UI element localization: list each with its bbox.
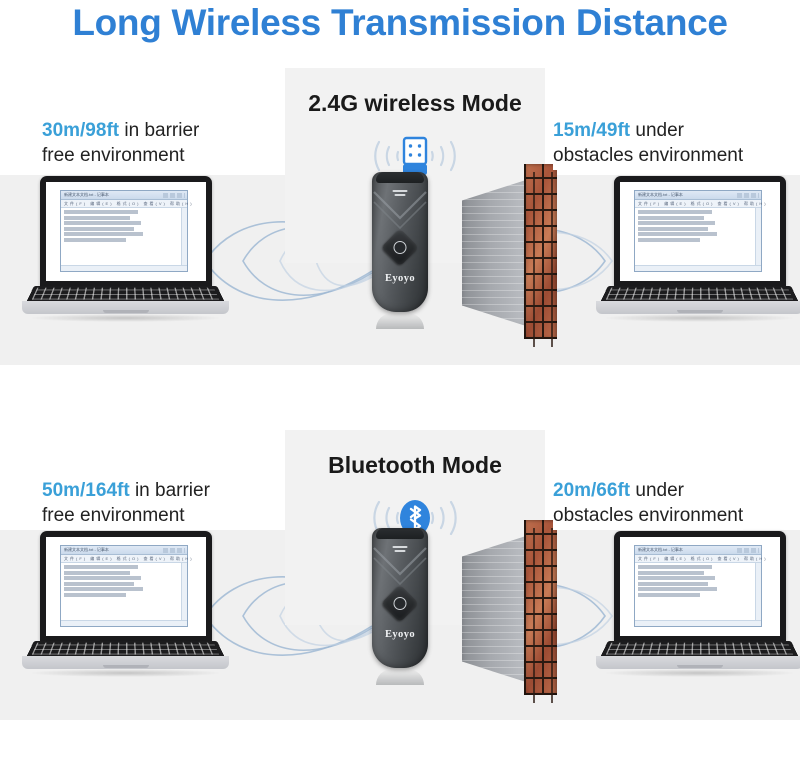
wall-side-face [462,180,526,326]
notepad-titlebar: 新建文本文档.txt - 记事本 [61,546,187,555]
notepad-titlebar: 新建文本文档.txt - 记事本 [635,546,761,555]
notepad-menu-text: 文件(F) 编辑(E) 格式(O) 查看(V) 帮助(H) [638,201,768,207]
laptop-screen: 新建文本文档.txt - 记事本 文件(F) 编辑(E) 格式(O) 查看(V)… [46,182,206,281]
mode-title: Bluetooth Mode [285,452,545,479]
scanner-trigger-button[interactable] [394,241,407,254]
distance-qualifier: in barrier [130,480,210,501]
notepad-window: 新建文本文档.txt - 记事本 文件(F) 编辑(E) 格式(O) 查看(V)… [634,190,762,272]
laptop-shadow [28,314,223,322]
laptop-shadow [602,669,797,677]
notepad-title-text: 新建文本文档.txt - 记事本 [64,192,109,198]
caption-right-bluetooth: 20m/66ft under obstacles environment [553,476,743,530]
laptop-deck [596,301,800,314]
laptop-screen: 新建文本文档.txt - 记事本 文件(F) 编辑(E) 格式(O) 查看(V)… [46,537,206,636]
scanner-reflection [376,313,424,329]
caption-line2: obstacles environment [553,143,743,168]
notepad-titlebar: 新建文本文档.txt - 记事本 [635,191,761,200]
laptop-left: 新建文本文档.txt - 记事本 文件(F) 编辑(E) 格式(O) 查看(V)… [18,176,233,326]
notepad-menubar[interactable]: 文件(F) 编辑(E) 格式(O) 查看(V) 帮助(H) [635,200,761,208]
caption-line2: free environment [42,503,210,528]
laptop-base [18,286,233,316]
laptop-shadow [28,669,223,677]
notepad-menubar[interactable]: 文件(F) 编辑(E) 格式(O) 查看(V) 帮助(H) [61,555,187,563]
section-wireless-24g: 新建文本文档.txt - 记事本 文件(F) 编辑(E) 格式(O) 查看(V)… [0,56,800,386]
page-title: Long Wireless Transmission Distance [0,2,800,44]
laptop-lid: 新建文本文档.txt - 记事本 文件(F) 编辑(E) 格式(O) 查看(V)… [614,176,786,288]
brand-logo: Eyoyo [372,273,428,284]
notepad-text-area[interactable] [635,563,761,626]
laptop-deck [22,656,229,669]
window-controls[interactable] [737,193,759,198]
laptop-lid: 新建文本文档.txt - 记事本 文件(F) 编辑(E) 格式(O) 查看(V)… [40,531,212,643]
vertical-scrollbar[interactable] [181,208,187,265]
laptop-keyboard [601,286,799,302]
caption-line2: obstacles environment [553,503,743,528]
horizontal-scrollbar[interactable] [61,265,187,271]
barcode-scanner-device: Eyoyo [372,528,428,683]
notepad-menubar[interactable]: 文件(F) 编辑(E) 格式(O) 查看(V) 帮助(H) [61,200,187,208]
caption-left-bluetooth: 50m/164ft in barrier free environment [42,476,210,530]
notepad-window: 新建文本文档.txt - 记事本 文件(F) 编辑(E) 格式(O) 查看(V)… [634,545,762,627]
notepad-menu-text: 文件(F) 编辑(E) 格式(O) 查看(V) 帮助(H) [64,201,194,207]
notepad-titlebar: 新建文本文档.txt - 记事本 [61,191,187,200]
window-controls[interactable] [163,193,185,198]
laptop-shadow [602,314,797,322]
laptop-left: 新建文本文档.txt - 记事本 文件(F) 编辑(E) 格式(O) 查看(V)… [18,531,233,681]
wall-side-face [462,536,526,682]
vertical-scrollbar[interactable] [755,563,761,620]
scanner-top-cap [376,528,424,539]
notepad-menu-text: 文件(F) 编辑(E) 格式(O) 查看(V) 帮助(H) [638,556,768,562]
distance-qualifier: in barrier [119,120,199,141]
brick-wall-obstacle [462,520,567,695]
laptop-base [592,286,800,316]
notepad-text-area[interactable] [61,208,187,271]
laptop-base [592,641,800,671]
caption-right-wireless: 15m/49ft under obstacles environment [553,116,743,170]
window-controls[interactable] [163,548,185,553]
laptop-deck [596,656,800,669]
laptop-keyboard [27,286,225,302]
window-controls[interactable] [737,548,759,553]
laptop-lid: 新建文本文档.txt - 记事本 文件(F) 编辑(E) 格式(O) 查看(V)… [614,531,786,643]
notepad-title-text: 新建文本文档.txt - 记事本 [638,547,683,553]
mode-title: 2.4G wireless Mode [285,90,545,117]
laptop-right: 新建文本文档.txt - 记事本 文件(F) 编辑(E) 格式(O) 查看(V)… [592,176,800,326]
vertical-scrollbar[interactable] [755,208,761,265]
distance-value: 50m/164ft [42,480,130,501]
infographic-page: Long Wireless Transmission Distance 新建文本… [0,0,800,766]
scanner-body: Eyoyo [372,172,428,312]
usb-dongle-icon [403,138,427,175]
brick-wall-obstacle [462,164,567,339]
scanner-reflection [376,669,424,685]
distance-value: 20m/66ft [553,480,630,501]
distance-qualifier: under [630,480,684,501]
notepad-text-area[interactable] [635,208,761,271]
scanner-trigger-button[interactable] [394,597,407,610]
laptop-deck [22,301,229,314]
laptop-keyboard [27,641,225,657]
laptop-right: 新建文本文档.txt - 记事本 文件(F) 编辑(E) 格式(O) 查看(V)… [592,531,800,681]
laptop-lid: 新建文本文档.txt - 记事本 文件(F) 编辑(E) 格式(O) 查看(V)… [40,176,212,288]
distance-value: 15m/49ft [553,120,630,141]
scanner-window-slit [393,546,408,555]
section-bluetooth: 新建文本文档.txt - 记事本 文件(F) 编辑(E) 格式(O) 查看(V)… [0,418,800,748]
horizontal-scrollbar[interactable] [61,620,187,626]
notepad-menu-text: 文件(F) 编辑(E) 格式(O) 查看(V) 帮助(H) [64,556,194,562]
caption-line2: free environment [42,143,199,168]
horizontal-scrollbar[interactable] [635,620,761,626]
notepad-title-text: 新建文本文档.txt - 记事本 [638,192,683,198]
notepad-title-text: 新建文本文档.txt - 记事本 [64,547,109,553]
barcode-scanner-device: Eyoyo [372,172,428,327]
notepad-window: 新建文本文档.txt - 记事本 文件(F) 编辑(E) 格式(O) 查看(V)… [60,545,188,627]
distance-qualifier: under [630,120,684,141]
laptop-screen: 新建文本文档.txt - 记事本 文件(F) 编辑(E) 格式(O) 查看(V)… [620,537,780,636]
wall-brick-face [524,520,557,695]
caption-left-wireless: 30m/98ft in barrier free environment [42,116,199,170]
notepad-menubar[interactable]: 文件(F) 编辑(E) 格式(O) 查看(V) 帮助(H) [635,555,761,563]
laptop-screen: 新建文本文档.txt - 记事本 文件(F) 编辑(E) 格式(O) 查看(V)… [620,182,780,281]
horizontal-scrollbar[interactable] [635,265,761,271]
scanner-window-slit [393,190,408,199]
scanner-body: Eyoyo [372,528,428,668]
distance-value: 30m/98ft [42,120,119,141]
scanner-top-cap [376,172,424,183]
notepad-text-area[interactable] [61,563,187,626]
brand-logo: Eyoyo [372,629,428,640]
vertical-scrollbar[interactable] [181,563,187,620]
laptop-keyboard [601,641,799,657]
notepad-window: 新建文本文档.txt - 记事本 文件(F) 编辑(E) 格式(O) 查看(V)… [60,190,188,272]
laptop-base [18,641,233,671]
wall-brick-face [524,164,557,339]
